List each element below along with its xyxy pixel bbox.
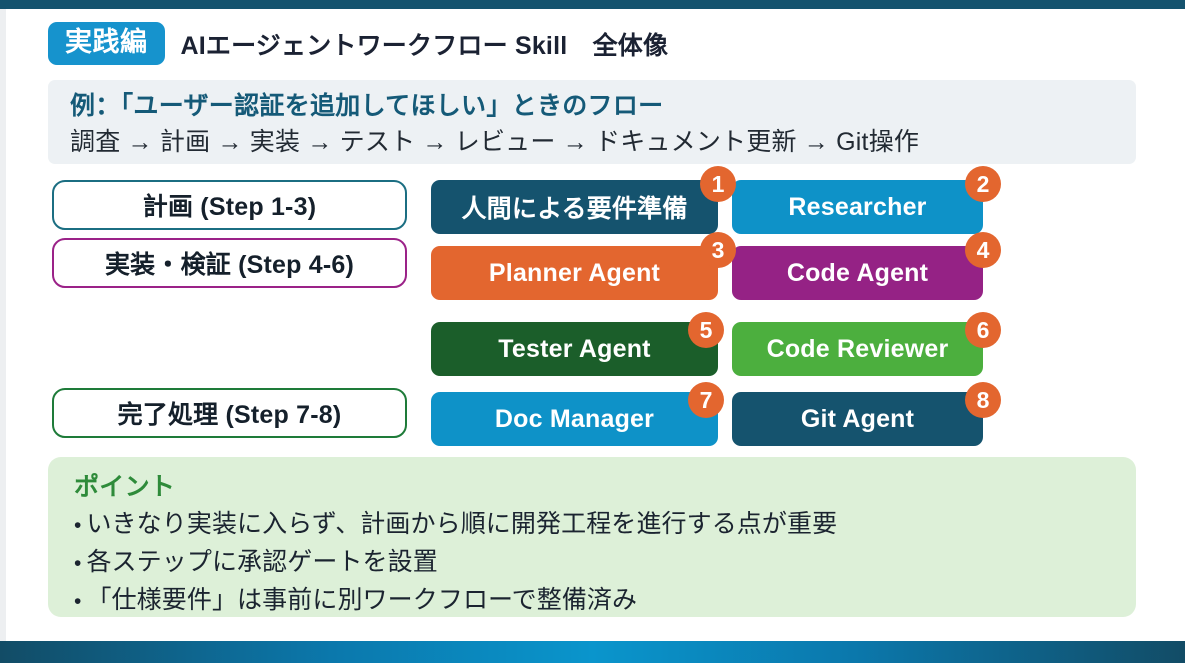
phase-label-plan: 計画 (Step 1-3) <box>52 180 407 230</box>
agent-label: Git Agent <box>801 405 914 434</box>
step-badge-number: 6 <box>977 319 990 342</box>
step-badge-1: 1 <box>700 166 736 202</box>
points-panel: ポイント • いきなり実装に入らず、計画から順に開発工程を進行する点が重要 • … <box>48 457 1136 617</box>
agent-box-3[interactable]: Planner Agent <box>431 246 718 300</box>
example-flow-panel: 例：「ユーザー認証を追加してほしい」ときのフロー 調査 → 計画 → 実装 → … <box>48 80 1136 164</box>
slide-canvas: 実践編 AIエージェントワークフロー Skill 全体像 例：「ユーザー認証を追… <box>0 0 1185 663</box>
top-accent-bar <box>0 0 1185 9</box>
left-edge-strip <box>0 9 6 641</box>
bullet-icon: • <box>74 515 81 536</box>
agent-label: Tester Agent <box>498 335 650 364</box>
section-chip: 実践編 <box>48 22 165 65</box>
agent-box-8[interactable]: Git Agent <box>732 392 983 446</box>
step-badge-3: 3 <box>700 232 736 268</box>
step-badge-7: 7 <box>688 382 724 418</box>
page-title: AIエージェントワークフロー Skill 全体像 <box>181 26 669 62</box>
example-flow-steps: 調査 → 計画 → 実装 → テスト → レビュー → ドキュメント更新 → G… <box>70 124 1114 162</box>
agent-box-5[interactable]: Tester Agent <box>431 322 718 376</box>
step-badge-4: 4 <box>965 232 1001 268</box>
bottom-accent-bar <box>0 641 1185 663</box>
agent-label: Planner Agent <box>489 259 660 288</box>
step-badge-8: 8 <box>965 382 1001 418</box>
agent-label: Researcher <box>788 193 926 222</box>
agent-label: 人間による要件準備 <box>461 189 687 225</box>
point-item: • 「仕様要件」は事前に別ワークフローで整備済み <box>74 581 1110 619</box>
agent-box-1[interactable]: 人間による要件準備 <box>431 180 718 234</box>
agent-box-2[interactable]: Researcher <box>732 180 983 234</box>
header: 実践編 AIエージェントワークフロー Skill 全体像 <box>48 22 668 65</box>
phase-label-text: 実装・検証 (Step 4-6) <box>105 245 354 281</box>
points-title: ポイント <box>74 471 1110 505</box>
bullet-icon: • <box>74 591 81 612</box>
phase-label-completion: 完了処理 (Step 7-8) <box>52 388 407 438</box>
step-badge-number: 4 <box>977 239 990 262</box>
point-text: 「仕様要件」は事前に別ワークフローで整備済み <box>86 581 637 619</box>
step-badge-number: 5 <box>700 319 713 342</box>
phase-label-implement-verify: 実装・検証 (Step 4-6) <box>52 238 407 288</box>
point-item: • 各ステップに承認ゲートを設置 <box>74 543 1110 581</box>
bullet-icon: • <box>74 553 81 574</box>
step-badge-number: 8 <box>977 389 990 412</box>
step-badge-number: 7 <box>700 389 713 412</box>
workflow-grid: 計画 (Step 1-3) 実装・検証 (Step 4-6) 完了処理 (Ste… <box>48 176 1136 446</box>
phase-label-text: 完了処理 (Step 7-8) <box>118 395 342 431</box>
step-badge-6: 6 <box>965 312 1001 348</box>
step-badge-number: 1 <box>712 173 725 196</box>
step-badge-5: 5 <box>688 312 724 348</box>
step-badge-2: 2 <box>965 166 1001 202</box>
agent-box-4[interactable]: Code Agent <box>732 246 983 300</box>
agent-label: Code Agent <box>787 259 928 288</box>
phase-label-text: 計画 (Step 1-3) <box>143 187 316 223</box>
example-flow-title: 例：「ユーザー認証を追加してほしい」ときのフロー <box>70 88 1114 124</box>
point-item: • いきなり実装に入らず、計画から順に開発工程を進行する点が重要 <box>74 505 1110 543</box>
point-text: 各ステップに承認ゲートを設置 <box>86 543 437 581</box>
step-badge-number: 3 <box>712 239 725 262</box>
agent-label: Doc Manager <box>495 405 654 434</box>
agent-label: Code Reviewer <box>767 335 949 364</box>
agent-box-7[interactable]: Doc Manager <box>431 392 718 446</box>
step-badge-number: 2 <box>977 173 990 196</box>
agent-box-6[interactable]: Code Reviewer <box>732 322 983 376</box>
point-text: いきなり実装に入らず、計画から順に開発工程を進行する点が重要 <box>86 505 837 543</box>
